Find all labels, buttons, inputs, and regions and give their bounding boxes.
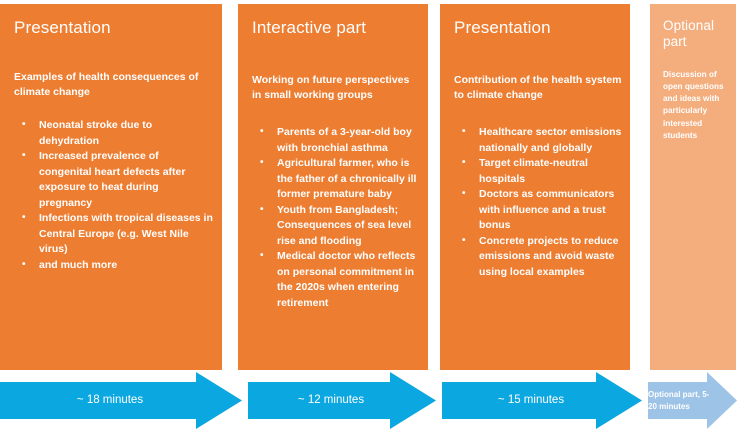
column-title: Interactive part	[252, 18, 420, 38]
column-title: Presentation	[454, 18, 622, 38]
list-item: Medical doctor who reflects on personal …	[248, 249, 420, 311]
list-item: Increased prevalence of congenital heart…	[10, 149, 214, 211]
timeline-arrow-label: ~ 18 minutes	[77, 393, 165, 407]
bullet-list: Healthcare sector emissions nationally a…	[450, 125, 622, 280]
column-presentation-2: Presentation Contribution of the health …	[440, 4, 630, 370]
bullet-list: Parents of a 3-year-old boy with bronchi…	[248, 125, 420, 311]
list-item: Agricultural farmer, who is the father o…	[248, 156, 420, 203]
column-subtitle: Contribution of the health system to cli…	[454, 73, 622, 103]
list-item: and much more	[10, 258, 214, 274]
list-item: Target climate-neutral hospitals	[450, 156, 622, 187]
list-item: Concrete projects to reduce emissions an…	[450, 234, 622, 281]
list-item: Doctors as communicators with influence …	[450, 187, 622, 234]
list-item: Healthcare sector emissions nationally a…	[450, 125, 622, 156]
timeline-arrow-band: ~ 18 minutes ~ 12 minutes ~ 15 minutes O…	[0, 372, 737, 429]
column-optional-part: Optional part Discussion of open questio…	[650, 4, 736, 370]
column-subtitle: Examples of health consequences of clima…	[14, 70, 214, 100]
slide-canvas: Presentation Examples of health conseque…	[0, 0, 737, 429]
timeline-arrow-label: Optional part, 5-20 minutes	[648, 389, 737, 413]
column-title: Presentation	[14, 18, 214, 38]
column-subtitle: Discussion of open questions and ideas w…	[663, 69, 728, 142]
list-item: Infections with tropical diseases in Cen…	[10, 211, 214, 258]
column-presentation-1: Presentation Examples of health conseque…	[0, 4, 222, 370]
timeline-arrow-3: ~ 15 minutes	[442, 372, 642, 429]
column-subtitle: Working on future perspectives in small …	[252, 73, 420, 103]
list-item: Neonatal stroke due to dehydration	[10, 118, 214, 149]
list-item: Youth from Bangladesh; Consequences of s…	[248, 203, 420, 250]
timeline-arrow-optional: Optional part, 5-20 minutes	[648, 372, 737, 429]
column-interactive-part: Interactive part Working on future persp…	[238, 4, 428, 370]
timeline-arrow-1: ~ 18 minutes	[0, 372, 242, 429]
column-title: Optional part	[663, 18, 728, 49]
bullet-list: Neonatal stroke due to dehydration Incre…	[10, 118, 214, 273]
list-item: Parents of a 3-year-old boy with bronchi…	[248, 125, 420, 156]
timeline-arrow-2: ~ 12 minutes	[248, 372, 436, 429]
timeline-arrow-label: ~ 12 minutes	[298, 393, 386, 407]
timeline-arrow-label: ~ 15 minutes	[498, 393, 586, 407]
